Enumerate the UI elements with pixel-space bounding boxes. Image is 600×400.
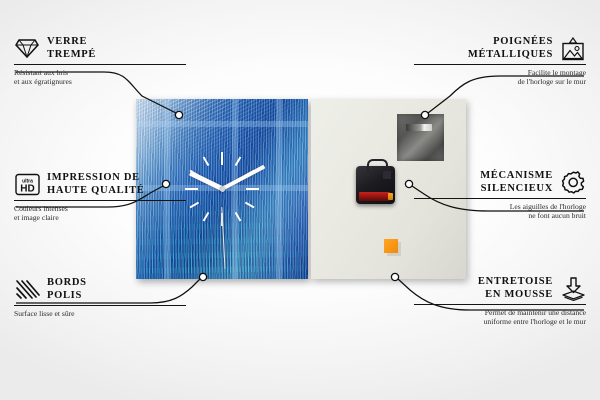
- gear-icon: [560, 171, 586, 195]
- press-down-layers-icon: [560, 277, 586, 301]
- feature-divider: [14, 200, 186, 201]
- diamond-icon: [14, 37, 40, 61]
- feature-title: MÉCANISME SILENCIEUX: [480, 170, 553, 195]
- feature-description: Les aiguilles de l'horloge ne font aucun…: [414, 202, 586, 221]
- feature-title: BORDS POLIS: [47, 277, 87, 302]
- feature-divider: [14, 305, 186, 306]
- metal-hanger-plate: [397, 114, 444, 161]
- feature-description: Permet de maintenir une distance uniform…: [414, 308, 586, 327]
- feature-description: Couleurs intenses et image claire: [14, 204, 186, 223]
- feature-title: IMPRESSION DE HAUTE QUALITÉ: [47, 172, 145, 197]
- feature-divider: [14, 64, 186, 65]
- mechanism-hook: [367, 159, 388, 171]
- feature-title: POIGNÉES MÉTALLIQUES: [468, 36, 553, 61]
- ultra-hd-icon: ultra HD: [14, 173, 40, 197]
- feature-divider: [414, 304, 586, 305]
- feature-divider: [414, 198, 586, 199]
- feature-polished-edges: BORDS POLIS Surface lisse et sûre: [14, 277, 186, 318]
- second-hand: [221, 207, 226, 269]
- product-feature-infographic: VERRE TREMPÉ Résistant aux bris et aux é…: [0, 0, 600, 400]
- feature-divider: [414, 64, 586, 65]
- center-cap: [220, 187, 225, 192]
- feature-tempered-glass: VERRE TREMPÉ Résistant aux bris et aux é…: [14, 36, 186, 87]
- mechanism-knob: [383, 171, 391, 179]
- feature-title: ENTRETOISE EN MOUSSE: [478, 276, 553, 301]
- feature-silent-mechanism: MÉCANISME SILENCIEUX Les aiguilles de l'…: [414, 170, 586, 221]
- battery: [359, 192, 390, 201]
- feature-description: Facilite le montage de l'horloge sur le …: [414, 68, 586, 87]
- feature-description: Résistant aux bris et aux égratignures: [14, 68, 186, 87]
- clock-mechanism-box: [356, 166, 395, 204]
- picture-hanger-icon: [560, 37, 586, 61]
- feature-metal-handles: POIGNÉES MÉTALLIQUES Facilite le montage…: [414, 36, 586, 87]
- feature-title: VERRE TREMPÉ: [47, 36, 96, 61]
- svg-text:HD: HD: [20, 184, 34, 195]
- feature-foam-spacer: ENTRETOISE EN MOUSSE Permet de maintenir…: [414, 276, 586, 327]
- feature-print-quality: ultra HD IMPRESSION DE HAUTE QUALITÉ Cou…: [14, 172, 186, 223]
- foam-spacer-piece: [384, 239, 398, 253]
- hanger-slot: [406, 124, 432, 131]
- feature-description: Surface lisse et sûre: [14, 309, 186, 318]
- polished-edge-icon: [14, 278, 40, 302]
